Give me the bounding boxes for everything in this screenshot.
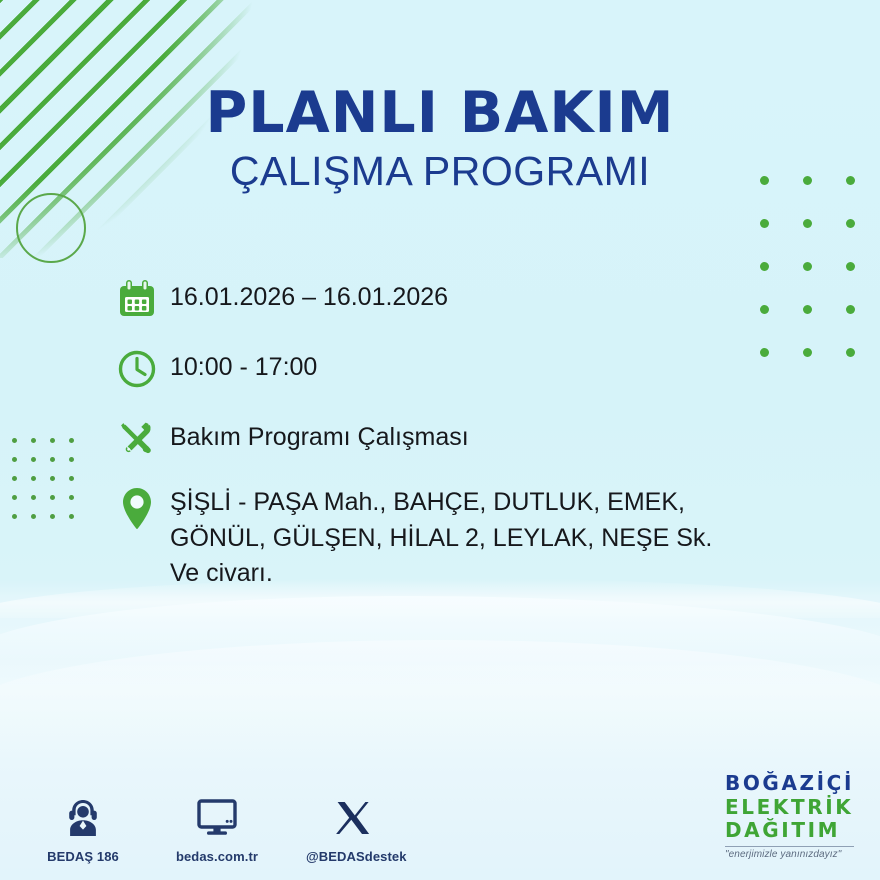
monitor-website-icon (172, 794, 262, 842)
x-social-icon (306, 794, 396, 842)
info-row-location: ŞİŞLİ - PAŞA Mah., BAHÇE, DUTLUK, EMEK, … (116, 482, 816, 592)
location-text: ŞİŞLİ - PAŞA Mah., BAHÇE, DUTLUK, EMEK, … (170, 482, 712, 592)
footer-item-x-social[interactable]: @BEDASdestek (306, 794, 396, 864)
maintenance-details: 16.01.2026 – 16.01.2026 10:00 - 17:00 (116, 272, 816, 592)
circle-outline-decoration (16, 193, 86, 263)
info-row-time: 10:00 - 17:00 (116, 342, 816, 396)
page-title: PLANLI BAKIM ÇALIŞMA PROGRAMI (0, 84, 880, 195)
wave-decoration-bottom (0, 640, 880, 760)
brand-line-bogazici: BOĞAZİÇİ (725, 772, 854, 796)
title-subtitle: ÇALIŞMA PROGRAMI (0, 148, 880, 195)
footer-contact-list: BEDAŞ 186 bedas.com.tr (38, 794, 396, 864)
clock-icon (116, 342, 170, 396)
footer: BEDAŞ 186 bedas.com.tr (0, 760, 880, 880)
footer-label-website: bedas.com.tr (172, 849, 262, 864)
brand-tagline: "enerjimizle yanınızdayız" (725, 846, 854, 860)
date-range-text: 16.01.2026 – 16.01.2026 (170, 272, 448, 316)
work-type-text: Bakım Programı Çalışması (170, 412, 469, 456)
wave-decoration-middle (0, 596, 880, 686)
dot-grid-left-decoration (12, 438, 88, 533)
info-row-work-type: Bakım Programı Çalışması (116, 412, 816, 466)
footer-item-call-center[interactable]: BEDAŞ 186 (38, 794, 128, 864)
footer-item-website[interactable]: bedas.com.tr (172, 794, 262, 864)
location-line-3: Ve civarı. (170, 556, 712, 592)
bogazici-elektrik-dagitim-logo: BOĞAZİÇİ ELEKTRİK DAĞITIM "enerjimizle y… (725, 772, 854, 860)
title-main: PLANLI BAKIM (0, 84, 880, 142)
brand-line-elektrik: ELEKTRİK (725, 796, 854, 820)
info-row-date: 16.01.2026 – 16.01.2026 (116, 272, 816, 326)
footer-label-x-social: @BEDASdestek (306, 849, 396, 864)
footer-label-call-center: BEDAŞ 186 (38, 849, 128, 864)
brand-line-dagitim: DAĞITIM (725, 819, 854, 843)
calendar-icon (116, 272, 170, 326)
location-line-1: ŞİŞLİ - PAŞA Mah., BAHÇE, DUTLUK, EMEK, (170, 485, 712, 521)
headset-support-icon (38, 794, 128, 842)
location-line-2: GÖNÜL, GÜLŞEN, HİLAL 2, LEYLAK, NEŞE Sk. (170, 521, 712, 557)
location-pin-icon (116, 482, 170, 540)
tools-icon (116, 412, 170, 466)
time-range-text: 10:00 - 17:00 (170, 342, 317, 386)
planned-maintenance-poster: PLANLI BAKIM ÇALIŞMA PROGRAMI (0, 0, 880, 880)
